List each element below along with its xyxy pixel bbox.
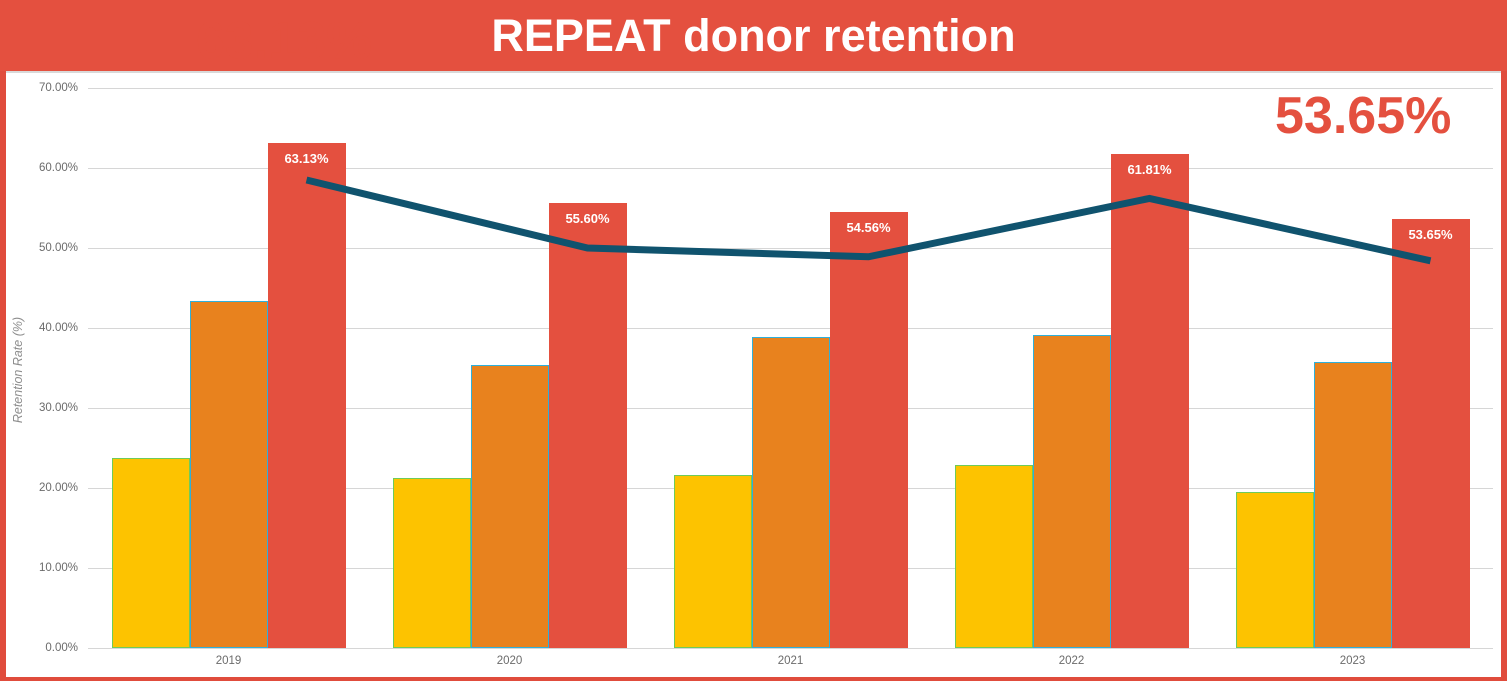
y-axis-tick-label: 10.00% xyxy=(6,562,78,574)
y-axis-tick-label: 60.00% xyxy=(6,162,78,174)
bar-series-2-2022 xyxy=(1033,335,1111,648)
y-axis-tick-label: 20.00% xyxy=(6,482,78,494)
x-axis-line xyxy=(88,648,1493,649)
x-axis-tick-label: 2021 xyxy=(778,655,804,667)
bar-series-2-2023 xyxy=(1314,362,1392,648)
bar-series-2-2019 xyxy=(190,301,268,648)
bar-value-label: 61.81% xyxy=(1111,162,1189,177)
bar-value-label: 54.56% xyxy=(830,220,908,235)
chart-page: REPEAT donor retention Retention Rate (%… xyxy=(0,0,1507,681)
y-axis-tick-label: 50.00% xyxy=(6,242,78,254)
bar-series-1-2023 xyxy=(1236,492,1314,648)
callout-last-value: 53.65% xyxy=(1275,90,1451,142)
bar-value-label: 55.60% xyxy=(549,211,627,226)
chart-plot-panel: Retention Rate (%) 0.00%10.00%20.00%30.0… xyxy=(6,71,1501,677)
x-axis-tick-label: 2019 xyxy=(216,655,242,667)
x-axis-tick-label: 2020 xyxy=(497,655,523,667)
bar-series-1-2019 xyxy=(112,458,190,648)
bar-series-3-2019: 63.13% xyxy=(268,143,346,648)
bar-series-3-2023: 53.65% xyxy=(1392,219,1470,648)
y-axis-tick-label: 0.00% xyxy=(6,642,78,654)
y-axis-title: Retention Rate (%) xyxy=(11,280,25,460)
bar-series-1-2020 xyxy=(393,478,471,648)
bar-value-label: 53.65% xyxy=(1392,227,1470,242)
y-axis-tick-label: 30.00% xyxy=(6,402,78,414)
y-axis-tick-label: 40.00% xyxy=(6,322,78,334)
bar-value-label: 63.13% xyxy=(268,151,346,166)
page-title: REPEAT donor retention xyxy=(491,13,1015,58)
bar-series-3-2021: 54.56% xyxy=(830,212,908,648)
bar-series-2-2020 xyxy=(471,365,549,648)
x-axis-tick-label: 2023 xyxy=(1340,655,1366,667)
y-axis-tick-label: 70.00% xyxy=(6,82,78,94)
bar-series-3-2022: 61.81% xyxy=(1111,154,1189,648)
bar-series-1-2021 xyxy=(674,475,752,648)
bar-series-3-2020: 55.60% xyxy=(549,203,627,648)
bar-series-1-2022 xyxy=(955,465,1033,648)
x-axis-tick-label: 2022 xyxy=(1059,655,1085,667)
callout-first-value: 63.13% xyxy=(196,15,372,67)
bar-series-2-2021 xyxy=(752,337,830,648)
